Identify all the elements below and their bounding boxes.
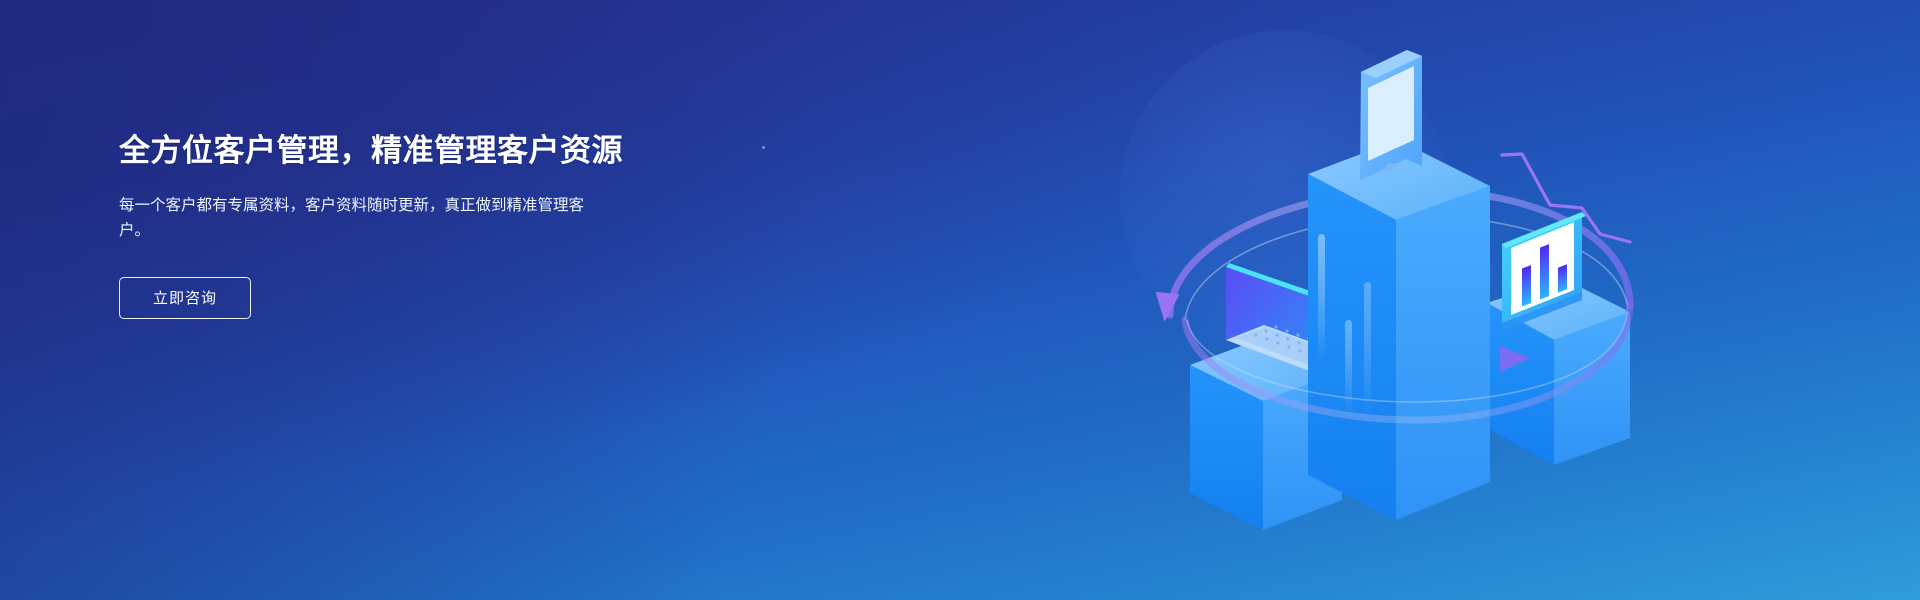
pillar-center (1308, 140, 1490, 520)
decorative-dot (762, 146, 765, 149)
tablet-icon (1360, 50, 1422, 180)
hero-illustration (1130, 20, 1690, 580)
orbit-arrow-left (1153, 292, 1180, 323)
hero-subtitle: 每一个客户都有专属资料，客户资料随时更新，真正做到精准管理客户。 (119, 193, 599, 243)
hero-banner: 全方位客户管理，精准管理客户资源 每一个客户都有专属资料，客户资料随时更新，真正… (0, 0, 1920, 600)
hero-copy-block: 全方位客户管理，精准管理客户资源 每一个客户都有专属资料，客户资料随时更新，真正… (119, 132, 739, 319)
page-title: 全方位客户管理，精准管理客户资源 (119, 132, 739, 171)
consult-now-button[interactable]: 立即咨询 (119, 277, 251, 319)
